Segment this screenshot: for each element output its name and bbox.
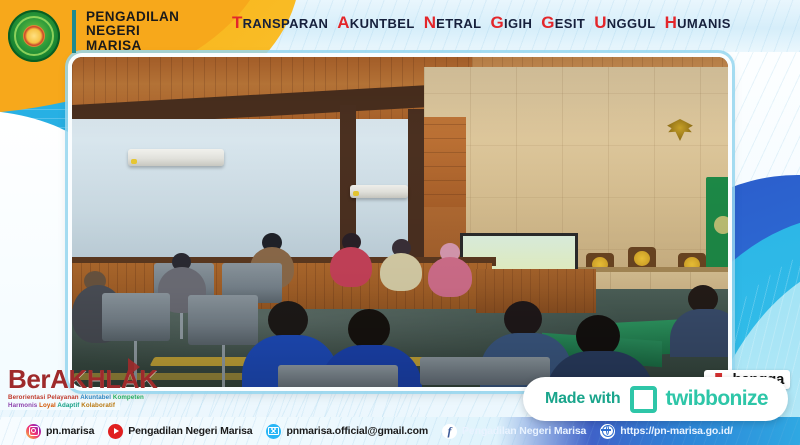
berakhlak-logo: BerAKHLAK Berorientasi Pelayanan Akuntab… — [8, 366, 158, 411]
photo-content — [72, 57, 728, 387]
instagram-icon[interactable] — [26, 424, 41, 439]
contact-item-1[interactable]: pn.marisa — [26, 424, 94, 439]
court-name: PENGADILAN NEGERI MARISA — [72, 10, 179, 53]
youtube-icon[interactable] — [108, 424, 123, 439]
contact-item-2[interactable]: Pengadilan Negeri Marisa — [108, 424, 252, 439]
motto-word-3: NETRAL — [424, 13, 482, 33]
motto-word-6: UNGGUL — [594, 13, 655, 33]
berakhlak-value-word: Kolaboratif — [81, 402, 115, 409]
twibbonize-made-with-label: Made with — [545, 390, 621, 408]
contact-item-3[interactable]: pnmarisa.official@gmail.com — [266, 424, 428, 439]
berakhlak-value-word: Adaptif — [57, 402, 81, 409]
twibbonize-badge[interactable]: Made with twibbonize — [523, 377, 788, 421]
contact-label: https://pn-marisa.go.id/ — [620, 425, 733, 437]
motto-word-rest: UMANIS — [677, 16, 731, 31]
berakhlak-value-word: Loyal — [39, 402, 57, 409]
motto-word-4: GIGIH — [491, 13, 533, 33]
motto-word-5: GESIT — [541, 13, 585, 33]
globe-icon[interactable] — [600, 424, 615, 439]
court-name-line-1: PENGADILAN — [86, 10, 179, 24]
motto-word-initial: A — [337, 13, 349, 32]
motto-word-7: HUMANIS — [665, 13, 731, 33]
seal-emblem-icon — [8, 10, 60, 62]
motto-word-initial: T — [232, 13, 243, 32]
photo-shading-overlay — [72, 57, 728, 387]
motto-tagline: TRANSPARANAKUNTBELNETRALGIGIHGESITUNGGUL… — [232, 13, 788, 37]
motto-word-1: TRANSPARAN — [232, 13, 328, 33]
facebook-icon[interactable]: f — [442, 424, 457, 439]
motto-word-2: AKUNTBEL — [337, 13, 414, 33]
contact-list: pn.marisaPengadilan Negeri Marisapnmaris… — [0, 417, 800, 445]
motto-word-initial: G — [541, 13, 554, 32]
motto-word-initial: N — [424, 13, 436, 32]
motto-word-initial: H — [665, 13, 677, 32]
court-name-line-2: NEGERI — [86, 24, 179, 38]
motto-word-initial: G — [491, 13, 504, 32]
berakhlak-arrow-icon — [128, 358, 140, 376]
court-seal-logo — [8, 10, 60, 62]
twibbonize-square-icon — [630, 386, 657, 413]
mail-icon[interactable] — [266, 424, 281, 439]
contact-item-5[interactable]: https://pn-marisa.go.id/ — [600, 424, 733, 439]
berakhlak-value-word: Berorientasi Pelayanan — [8, 394, 80, 401]
contact-label: pn.marisa — [46, 425, 94, 437]
contact-item-4[interactable]: fPengadilan Negeri Marisa — [442, 424, 586, 439]
twibbon-poster: PENGADILAN NEGERI MARISA TRANSPARANAKUNT… — [0, 0, 800, 445]
motto-word-rest: KUNTBEL — [350, 16, 415, 31]
berakhlak-value-word: Kompeten — [113, 394, 144, 401]
motto-word-rest: ESIT — [555, 16, 586, 31]
motto-word-rest: ETRAL — [436, 16, 481, 31]
contact-label: Pengadilan Negeri Marisa — [462, 425, 586, 437]
berakhlak-values-line-1: Berorientasi Pelayanan Akuntabel Kompete… — [8, 394, 158, 402]
court-name-line-3: MARISA — [86, 39, 179, 53]
contact-label: Pengadilan Negeri Marisa — [128, 425, 252, 437]
motto-word-rest: NGGUL — [607, 16, 656, 31]
motto-word-rest: IGIH — [504, 16, 532, 31]
berakhlak-values: Berorientasi Pelayanan Akuntabel Kompete… — [8, 394, 158, 411]
berakhlak-values-line-2: Harmonis Loyal Adaptif Kolaboratif — [8, 402, 158, 410]
berakhlak-value-word: Harmonis — [8, 402, 39, 409]
courtroom-photo — [72, 57, 728, 387]
contact-label: pnmarisa.official@gmail.com — [286, 425, 428, 437]
motto-word-initial: U — [594, 13, 606, 32]
berakhlak-value-word: Akuntabel — [80, 394, 113, 401]
motto-word-rest: RANSPARAN — [243, 16, 329, 31]
twibbonize-brand-label: twibbonize — [666, 387, 769, 411]
